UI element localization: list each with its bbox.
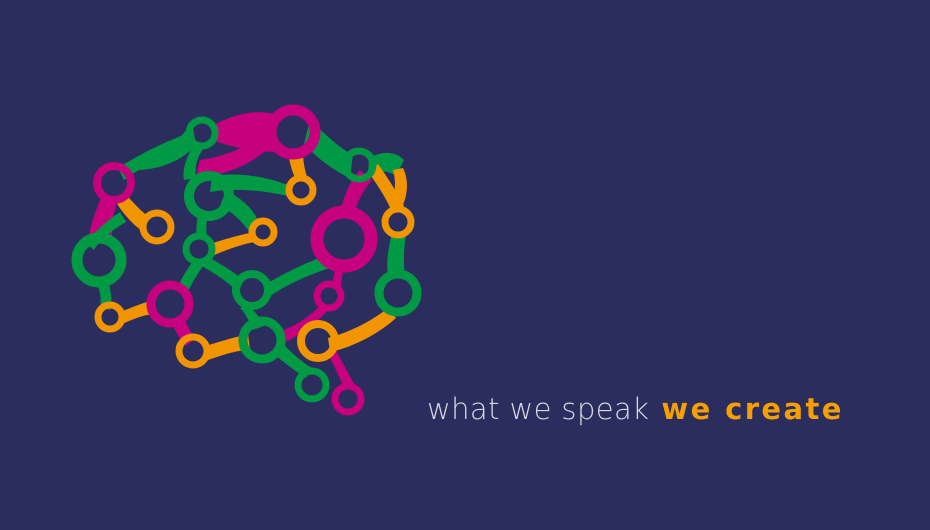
node-n6 bbox=[97, 166, 131, 200]
node-n15 bbox=[151, 285, 189, 323]
node-n5 bbox=[385, 209, 411, 235]
brain-network-logo bbox=[0, 0, 930, 530]
node-n12 bbox=[317, 212, 371, 266]
node-n7 bbox=[143, 213, 171, 241]
tagline-plain-text: what we speak bbox=[427, 391, 649, 427]
logo-canvas: what we speak we create bbox=[0, 0, 930, 530]
link-orange-4 bbox=[210, 232, 255, 256]
tagline: what we speak we create bbox=[427, 391, 844, 427]
node-n9 bbox=[252, 221, 274, 243]
node-n19 bbox=[379, 274, 417, 312]
node-n16 bbox=[179, 337, 207, 365]
tagline-accent-text: we create bbox=[661, 391, 843, 427]
node-n13 bbox=[236, 274, 268, 306]
node-n22 bbox=[335, 386, 361, 412]
node-n8 bbox=[189, 176, 229, 216]
node-n4 bbox=[289, 178, 313, 202]
node-n11 bbox=[186, 236, 212, 262]
node-n18 bbox=[317, 284, 341, 308]
node-n21 bbox=[298, 371, 326, 399]
node-n10 bbox=[77, 238, 121, 282]
